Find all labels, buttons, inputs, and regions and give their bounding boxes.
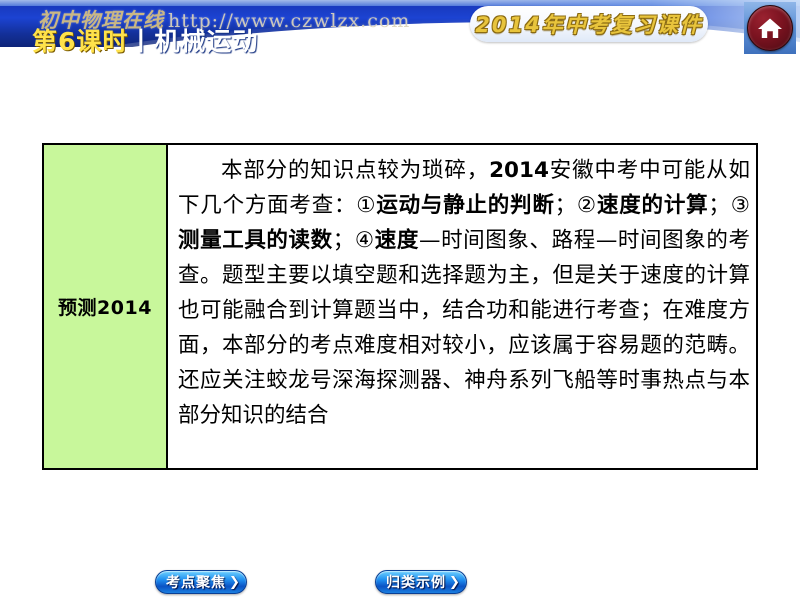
page-title: 第6课时丨机械运动 [32, 22, 258, 58]
body-text-run: ；② [555, 193, 597, 218]
nav-button-key-points[interactable]: 考点聚焦 ❯ [155, 570, 247, 594]
body-text-run: —时间图象、路程—时间图象的考查。题型主要以填空题和选择题为主，但是关于速度的计… [178, 228, 750, 428]
page-title-separator: 丨 [128, 27, 154, 56]
body-text-emphasis: 运动与静止的判断 [376, 193, 554, 218]
page-title-lesson: 第6课时 [32, 27, 128, 56]
nav-button-examples[interactable]: 归类示例 ❯ [375, 570, 467, 594]
body-text-run: ；④ [333, 228, 375, 253]
slide-header: 初中物理在线http://www.czwlzx.com 第6课时丨机械运动 20… [0, 0, 800, 60]
nav-button-label: 考点聚焦 [166, 572, 226, 592]
home-icon [747, 5, 793, 51]
body-text-run: ；③ [708, 193, 750, 218]
body-text-emphasis: 速度的计算 [597, 193, 708, 218]
prediction-body-text: 本部分的知识点较为琐碎，2014安徽中考中可能从如下几个方面考查：①运动与静止的… [178, 153, 750, 433]
course-banner: 2014年中考复习课件 [470, 6, 708, 42]
page-title-subject: 机械运动 [154, 27, 258, 56]
course-banner-label: 2014年中考复习课件 [475, 9, 702, 39]
chevron-right-icon: ❯ [449, 576, 460, 589]
body-text-emphasis: 速度 [375, 228, 419, 253]
chevron-right-icon: ❯ [229, 576, 240, 589]
table-cell-label: 预测2014 [44, 145, 168, 468]
body-text-emphasis: 测量工具的读数 [178, 228, 333, 253]
body-text-run: 本部分的知识点较为琐碎， [221, 158, 489, 183]
table-cell-body: 本部分的知识点较为琐碎，2014安徽中考中可能从如下几个方面考查：①运动与静止的… [168, 145, 756, 468]
nav-button-label: 归类示例 [386, 572, 446, 592]
prediction-table: 预测2014 本部分的知识点较为琐碎，2014安徽中考中可能从如下几个方面考查：… [42, 143, 758, 470]
body-text-emphasis: 2014 [489, 158, 549, 183]
prediction-label: 预测2014 [58, 293, 152, 320]
home-button[interactable] [744, 2, 796, 54]
